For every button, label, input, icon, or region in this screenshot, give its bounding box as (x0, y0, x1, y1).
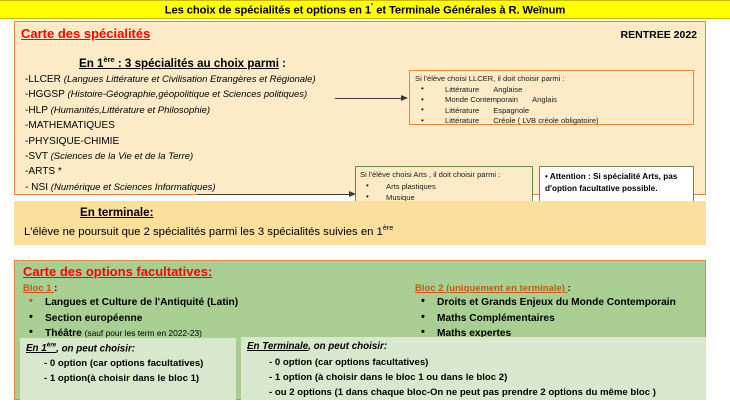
sub-terminale-title-underlined: En Terminale (247, 341, 308, 352)
sub-terminale-lines: - 0 option (car options facultatives) - … (269, 355, 656, 400)
specialite-item: -HGGSP (Histoire-Géographie,géopolitique… (25, 87, 355, 102)
arts-option-list: Arts plastiques Musique (360, 181, 528, 203)
specialite-code: -MATHEMATIQUES (25, 120, 115, 131)
en-terminale-text: L'élève ne poursuit que 2 spécialités pa… (24, 223, 393, 238)
options-panel-title: Carte des options facultatives: (23, 264, 212, 279)
specialite-code: -SVT (25, 151, 51, 162)
attention-text-1: Attention : Si spécialité Arts, pas (548, 172, 678, 181)
rentree-label: RENTREE 2022 (621, 29, 697, 41)
bloc1-item-label: Section européenne (45, 313, 142, 324)
specialites-panel-title: Carte des spécialités (21, 26, 150, 41)
llcer-option-language: Espagnole (493, 106, 529, 115)
bloc1-item-label: Langues et Culture de l'Antiquité (Latin… (45, 297, 238, 308)
bloc1-item: Section européenne (23, 311, 238, 327)
specialite-item: -HLP (Humanités,Littérature et Philosoph… (25, 103, 355, 118)
specialite-code: -HLP (25, 105, 51, 116)
specialite-code: -ARTS * (25, 166, 62, 177)
bloc2-heading-label: Bloc 2 (uniquement en terminale) (415, 283, 568, 294)
arrow-llcer-line (335, 98, 403, 99)
specialite-item: -SVT (Sciences de la Vie et de la Terre) (25, 149, 355, 164)
en-terminale-title: En terminale: (80, 206, 153, 219)
specialite-desc: (Histoire-Géographie,géopolitique et Sci… (67, 89, 307, 100)
sub-terminale-line: - ou 2 options (1 dans chaque bloc-On ne… (269, 385, 656, 400)
bloc2-heading-colon: : (568, 283, 571, 294)
llcer-option-language: Créole ( LVB créole obligatoire) (493, 116, 598, 125)
en-premiere-prefix: En 1 (79, 57, 103, 70)
sub-premiere-line: - 1 option(à choisir dans le bloc 1) (44, 371, 203, 386)
specialites-panel: Carte des spécialités RENTREE 2022 En 1è… (14, 21, 706, 195)
sub-terminale-title: En Terminale, on peut choisir: (247, 341, 387, 352)
sub-premiere-line: - 0 option (car options facultatives) (44, 356, 203, 371)
title-banner: Les choix de spécialités et options en 1… (0, 0, 730, 19)
specialite-item: - NSI (Numérique et Sciences Informatiqu… (25, 180, 355, 195)
bloc1-list: Langues et Culture de l'Antiquité (Latin… (23, 295, 238, 342)
en-premiere-colon: : (279, 57, 286, 70)
specialite-code: -LLCER (25, 74, 64, 85)
specialite-item: -PHYSIQUE-CHIMIE (25, 134, 355, 149)
llcer-option-subject: Littérature (445, 106, 479, 115)
arts-option-item: Arts plastiques (360, 181, 528, 192)
sub-panel-premiere: En 1ère, on peut choisir: - 0 option (ca… (20, 338, 236, 400)
llcer-option-subject: Monde Contemporain (445, 95, 518, 104)
sub-premiere-lines: - 0 option (car options facultatives) - … (44, 356, 203, 386)
page-title-part1: Les choix de spécialités et options en 1 (165, 4, 371, 16)
arrow-llcer-head-icon (401, 95, 408, 101)
specialite-item: -MATHEMATIQUES (25, 118, 355, 133)
en-premiere-rest: : 3 spécialités au choix parmi (115, 57, 279, 70)
sub-terminale-line: - 0 option (car options facultatives) (269, 355, 656, 370)
en-premiere-sup: ère (103, 55, 114, 64)
attention-line-1: • Attention : Si spécialité Arts, pas (545, 171, 688, 183)
llcer-option-item: Monde ContemporainAnglais (415, 95, 688, 106)
attention-callout-box: • Attention : Si spécialité Arts, pas d'… (539, 166, 694, 202)
bloc1-item-note: (sauf pour les term en 2022-23) (85, 328, 202, 338)
sub-premiere-rest: , on peut choisir: (56, 343, 135, 354)
sub-panel-terminale: En Terminale, on peut choisir: - 0 optio… (241, 337, 706, 400)
specialite-desc: (Numérique et Sciences Informatiques) (51, 182, 216, 193)
sub-premiere-sup: ère (47, 342, 56, 349)
specialite-code: -PHYSIQUE-CHIMIE (25, 136, 119, 147)
en-terminale-band: En terminale: L'élève ne poursuit que 2 … (14, 201, 706, 245)
llcer-option-item: LittératureEspagnole (415, 106, 688, 117)
specialite-code: - NSI (25, 182, 51, 193)
llcer-option-list: LittératureAnglaise Monde ContemporainAn… (415, 85, 688, 127)
bloc2-item: Droits et Grands Enjeux du Monde Contemp… (415, 295, 676, 311)
arrow-arts-line (197, 194, 351, 195)
sub-premiere-title: En 1ère, on peut choisir: (26, 342, 135, 354)
page-title-part2: et Terminale Générales à R. Weïnum (373, 4, 565, 16)
bloc1-heading-colon: : (54, 283, 57, 294)
bloc2-heading: Bloc 2 (uniquement en terminale) : (415, 283, 571, 294)
en-premiere-heading: En 1ère : 3 spécialités au choix parmi : (79, 55, 286, 70)
specialite-item: -LLCER (Langues Littérature et Civilisat… (25, 72, 355, 87)
sub-terminale-rest: , on peut choisir: (308, 341, 387, 352)
specialite-desc: (Sciences de la Vie et de la Terre) (51, 151, 194, 162)
bloc1-heading-label: Bloc 1 (23, 283, 54, 294)
arts-callout-header: Si l'élève choisi Arts , il doit choisir… (360, 170, 528, 179)
llcer-option-language: Anglaise (493, 85, 522, 94)
specialite-code: -HGGSP (25, 89, 67, 100)
specialite-desc: (Langues Littérature et Civilisation Etr… (64, 74, 316, 85)
llcer-option-subject: Littérature (445, 116, 479, 125)
bloc2-item-label: Maths Complémentaires (437, 313, 555, 324)
specialite-desc: (Humanités,Littérature et Philosophie) (51, 105, 210, 116)
page-title: Les choix de spécialités et options en 1… (165, 3, 565, 17)
llcer-callout-header: Si l'élève choisi LLCER, il doit choisir… (415, 74, 688, 83)
specialite-item: -ARTS * (25, 164, 355, 179)
sub-premiere-title-underlined: En 1ère (26, 343, 56, 354)
llcer-callout-box: Si l'élève choisi LLCER, il doit choisir… (409, 70, 694, 125)
sub-terminale-line: - 1 option (à choisir dans le bloc 1 ou … (269, 370, 656, 385)
bloc2-item-label: Droits et Grands Enjeux du Monde Contemp… (437, 297, 676, 308)
llcer-option-item: LittératureCréole ( LVB créole obligatoi… (415, 116, 688, 127)
bloc2-list: Droits et Grands Enjeux du Monde Contemp… (415, 295, 676, 342)
en-premiere-heading-underlined: En 1ère : 3 spécialités au choix parmi (79, 57, 279, 70)
en-terminale-text-sup: ère (383, 223, 393, 232)
attention-line-2: d'option facultative possible. (545, 183, 688, 195)
bloc2-item: Maths Complémentaires (415, 311, 676, 327)
bloc1-item: Langues et Culture de l'Antiquité (Latin… (23, 295, 238, 311)
specialites-list: -LLCER (Langues Littérature et Civilisat… (25, 72, 355, 195)
bloc1-heading: Bloc 1 : (23, 283, 57, 294)
llcer-option-subject: Littérature (445, 85, 479, 94)
en-terminale-text-prefix: L'élève ne poursuit que 2 spécialités pa… (24, 226, 383, 238)
sub-premiere-prefix: En 1 (26, 343, 47, 354)
llcer-option-item: LittératureAnglaise (415, 85, 688, 96)
llcer-option-language: Anglais (532, 95, 557, 104)
